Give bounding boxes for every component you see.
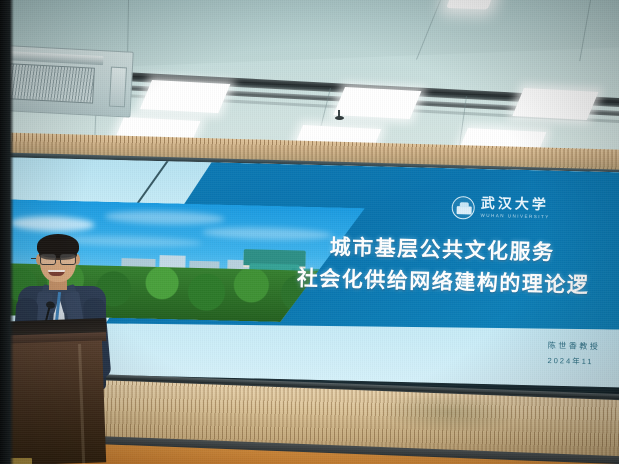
slide-title-block: 城市基层公共文化服务 社会化供给网络建构的理论逻: [328, 232, 619, 304]
ceiling-panel-light: [446, 0, 493, 9]
ceiling-panel-light: [333, 87, 421, 119]
ac-grille-icon: [1, 63, 95, 104]
university-emblem-icon: [451, 196, 475, 220]
logo-name-en: WUHAN UNIVERSITY: [480, 214, 549, 220]
air-conditioner-unit: [0, 44, 134, 118]
wall-shadow: [378, 390, 519, 435]
podium-body: [0, 340, 106, 464]
slide-presenter-name: 陈世香教授: [548, 340, 619, 354]
logo-text: 武汉大学 WUHAN UNIVERSITY: [480, 198, 550, 220]
ceiling-panel-light: [512, 88, 598, 120]
ceiling-panel-light: [140, 80, 230, 113]
lecture-hall-scene: 武汉大学 WUHAN UNIVERSITY 城市基层公共文化服务 社会化供给网络…: [0, 0, 619, 464]
wuhan-university-logo: 武汉大学 WUHAN UNIVERSITY: [451, 196, 550, 221]
ceiling: [0, 0, 619, 152]
glasses-icon: [39, 254, 77, 264]
frame-left-edge: [0, 0, 14, 464]
slide-credit-block: 陈世香教授 2024年11: [547, 340, 619, 369]
ac-side-panel: [109, 67, 127, 108]
logo-name-cn: 武汉大学: [481, 198, 551, 214]
glasses-bridge: [31, 258, 36, 259]
podium: [0, 322, 106, 464]
sprinkler-icon: [336, 110, 343, 121]
